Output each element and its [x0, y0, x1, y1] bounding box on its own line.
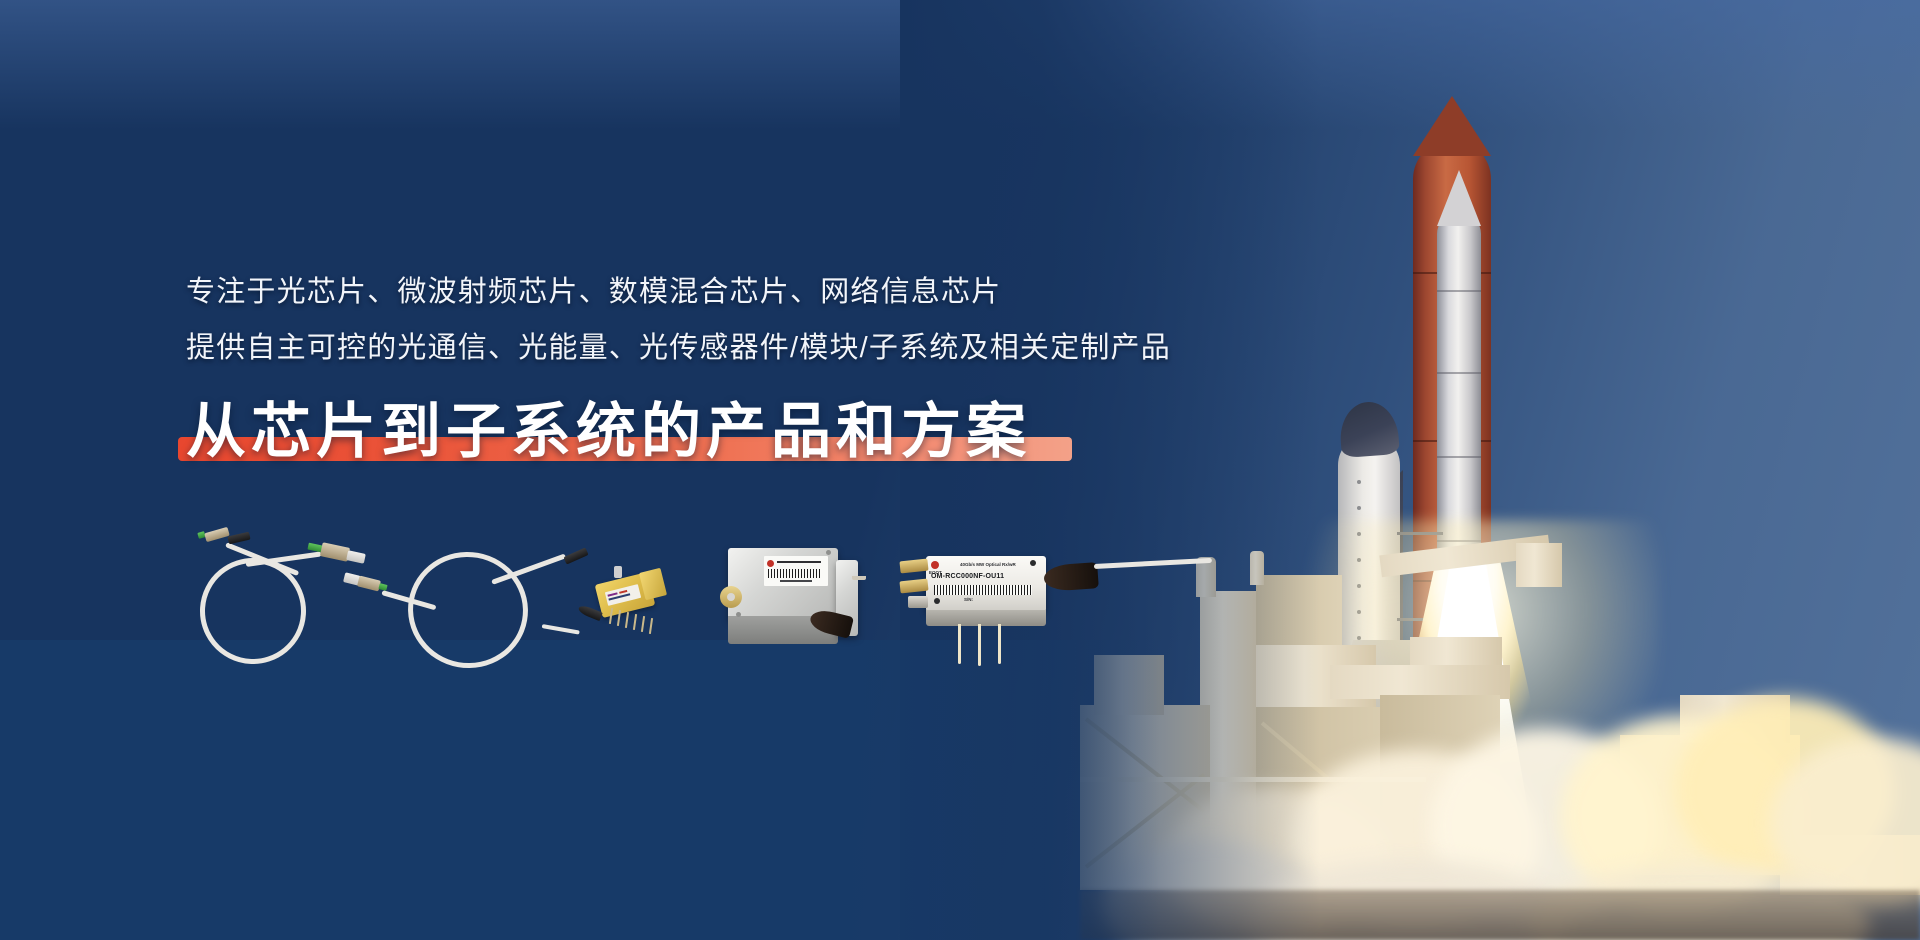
fiber-connector-metal — [357, 576, 381, 592]
butterfly-fiber-boot — [577, 604, 603, 621]
page-title: 从芯片到子系统的产品和方案 — [186, 400, 1031, 463]
receiver-barcode — [934, 585, 1032, 595]
receiver-lead-pin — [958, 624, 961, 664]
subtitle-line-2: 提供自主可控的光通信、光能量、光传感器件/模块/子系统及相关定制产品 — [186, 334, 1171, 363]
photo-bottom-fade — [0, 640, 1160, 940]
product-fiber-patch-cord-right — [342, 528, 572, 678]
access-arm-room — [1516, 543, 1562, 587]
module-label — [764, 556, 828, 586]
butterfly-pin — [633, 614, 637, 630]
module-pin — [852, 576, 866, 580]
booster-band — [1437, 456, 1481, 458]
rf-connector-body — [908, 596, 928, 608]
tower-deck — [1410, 637, 1502, 665]
booster-band — [1437, 290, 1481, 292]
sma-center-pin — [727, 593, 735, 601]
receiver-spec-text: 40Gb/s MW Optical Rx/wR — [960, 562, 1016, 567]
fiber-strain-relief-boot — [1043, 562, 1099, 592]
hero-copy: 专注于光芯片、微波射频芯片、数模混合芯片、网络信息芯片 提供自主可控的光通信、光… — [186, 278, 1171, 463]
headline-container: 从芯片到子系统的产品和方案 — [186, 400, 1031, 463]
module-barcode — [768, 569, 822, 578]
fiber-connector-boot — [227, 532, 250, 545]
brand-logo-icon — [931, 561, 939, 569]
product-optical-receiver-module: EOOT 40Gb/s MW Optical Rx/wR OM-RCC000NF… — [898, 530, 1198, 670]
rf-connector — [899, 559, 928, 574]
brand-logo-icon — [767, 560, 774, 567]
housing-screw — [826, 550, 831, 555]
receiver-housing-base — [926, 610, 1046, 626]
booster-band — [1437, 372, 1481, 374]
receiver-lead-pin — [998, 624, 1001, 664]
rf-connector — [899, 579, 928, 594]
orbiter-nose — [1338, 400, 1400, 458]
receiver-fiber-pigtail — [1094, 558, 1212, 569]
housing-screw — [1030, 560, 1036, 566]
fiber-connector-ferrule — [378, 583, 387, 591]
hero-banner: 专注于光芯片、微波射频芯片、数模混合芯片、网络信息芯片 提供自主可控的光通信、光… — [0, 0, 1920, 940]
butterfly-pin — [641, 616, 645, 632]
butterfly-pin — [625, 612, 629, 628]
receiver-lead-pin — [978, 624, 981, 666]
product-showcase-row: EOOT 40Gb/s MW Optical Rx/wR OM-RCC000NF… — [186, 522, 1206, 682]
receiver-part-number: OM-RCC000NF-OU11 — [931, 573, 1004, 580]
butterfly-post — [614, 566, 622, 578]
butterfly-pin — [649, 618, 653, 634]
housing-screw — [934, 598, 940, 604]
fiber-connector-metal — [204, 527, 230, 542]
product-rf-metal-module — [702, 534, 892, 674]
product-butterfly-laser-diode — [574, 542, 714, 662]
subtitle-line-1: 专注于光芯片、微波射频芯片、数模混合芯片、网络信息芯片 — [186, 278, 1171, 307]
housing-screw — [736, 612, 741, 617]
fiber-cable-loop — [399, 542, 537, 677]
receiver-serial-text: S/N: — [964, 597, 973, 602]
